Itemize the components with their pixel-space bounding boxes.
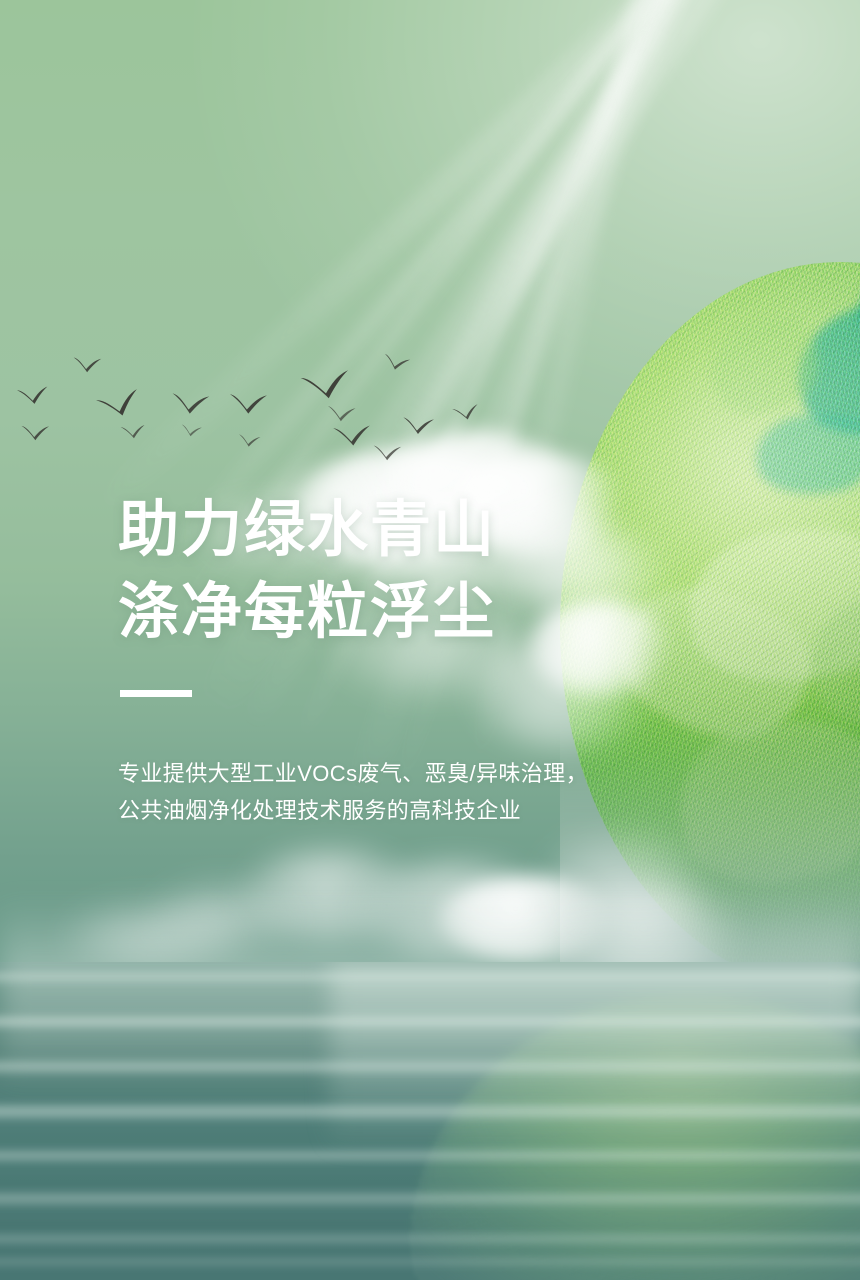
ripple-band-13 (0, 1232, 860, 1246)
subtitle-line-1: 专业提供大型工业VOCs废气、恶臭/异味治理， (118, 755, 658, 792)
ripple-band-5 (0, 1058, 860, 1076)
ripple-band-3 (0, 1014, 860, 1030)
ripple-band-14 (0, 1256, 860, 1268)
bird-icon (15, 384, 51, 407)
bird-icon (20, 423, 51, 442)
bird-icon (227, 391, 268, 417)
poster-root: 助力绿水青山 涤净每粒浮尘 专业提供大型工业VOCs废气、恶臭/异味治理， 公共… (0, 0, 860, 1280)
hero-copy: 助力绿水青山 涤净每粒浮尘 专业提供大型工业VOCs废气、恶臭/异味治理， 公共… (118, 488, 658, 829)
ripple-band-4 (0, 1042, 860, 1054)
headline-divider (120, 690, 192, 697)
ripple-band-1 (0, 970, 860, 984)
headline-line-1: 助力绿水青山 (118, 488, 658, 570)
ripple-band-9 (0, 1148, 860, 1164)
ripple-band-12 (0, 1218, 860, 1230)
bird-icon (119, 423, 146, 441)
ripple-band-10 (0, 1174, 860, 1188)
ripple-band-2 (0, 996, 860, 1006)
subtitle-line-2: 公共油烟净化处理技术服务的高科技企业 (118, 792, 658, 829)
ripple-band-7 (0, 1102, 860, 1122)
flying-birds-flock (0, 0, 520, 200)
ripple-band-8 (0, 1132, 860, 1144)
bird-icon (71, 355, 102, 375)
bird-icon (399, 414, 437, 437)
bird-icon (371, 443, 402, 463)
headline-line-2: 涤净每粒浮尘 (118, 570, 658, 652)
water-surface (0, 962, 860, 1280)
bird-icon (169, 390, 211, 418)
bird-icon (331, 423, 372, 449)
bird-icon (325, 402, 357, 425)
reflection-haze (330, 962, 860, 1152)
ripple-band-11 (0, 1190, 860, 1208)
ripple-band-6 (0, 1086, 860, 1096)
